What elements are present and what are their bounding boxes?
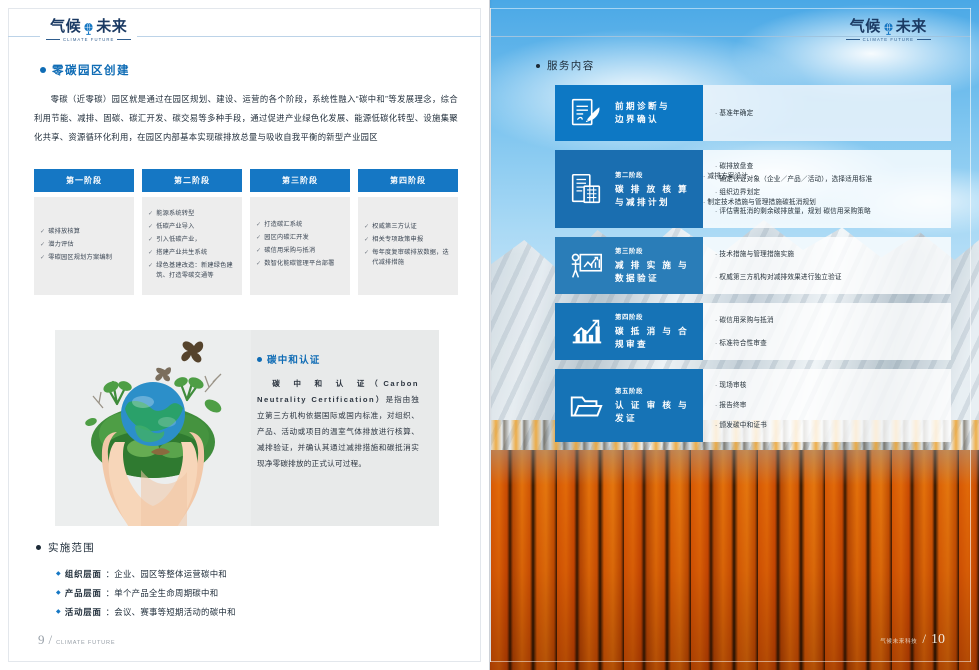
- left-page-footer: 9 / CLIMATE FUTURE: [38, 632, 115, 648]
- service-detail-overlay: 减排方案设计: [703, 170, 951, 183]
- stage-2-body: ✓能源系统转型 ✓低碳产业导入 ✓引入低碳产业， ✓搭建产业共生系统 ✓绿色基建…: [142, 197, 242, 295]
- check-icon: ✓: [364, 235, 369, 245]
- stage-item-label: 潜力评估: [48, 240, 74, 250]
- certification-heading: 碳中和认证: [257, 352, 419, 366]
- stage-item: ✓数智化能碳管理平台部署: [256, 259, 344, 269]
- stage-item: ✓相关专项政策申报: [364, 235, 452, 245]
- scope-heading: 实施范围: [36, 540, 95, 555]
- stage-item-label: 绿色基建改造：新建绿色建筑、打造零碳交通等: [156, 261, 236, 281]
- service-row-2-name: 碳 排 放 核 算 与减排计划: [615, 183, 689, 209]
- scope-item: ◆ 产品层面 ：单个产品全生命周期碳中和: [56, 584, 456, 603]
- stage-item-label: 低碳产业导入: [156, 222, 194, 232]
- service-row-1-details: 基准年确定: [703, 85, 951, 141]
- service-detail: 碳信用采购与抵消: [715, 314, 941, 327]
- section-title-text: 零碳园区创建: [52, 62, 130, 78]
- service-row-4-label: 第四阶段 碳 抵 消 与 合 规审查: [555, 303, 703, 360]
- scope-list: ◆ 组织层面 ：企业、园区等整体运营碳中和 ◆ 产品层面 ：单个产品全生命周期碳…: [56, 565, 456, 622]
- service-row-1-name: 前期诊断与 边界确认: [615, 100, 670, 126]
- service-detail: 基准年确定: [715, 107, 941, 120]
- stage-item-label: 权威第三方认证: [372, 222, 417, 232]
- footer-brand-name-left: CLIMATE FUTURE: [56, 640, 115, 646]
- check-icon: ✓: [364, 222, 369, 232]
- stage-item: ✓碳信用采购与抵消: [256, 246, 344, 256]
- section-title-zero-carbon-park: 零碳园区创建: [40, 62, 130, 78]
- service-row-3-details: 技术措施与管理措施实施 权威第三方机构对减排效果进行独立验证: [703, 237, 951, 294]
- brand-logo-right: 气候 未来 CLIMATE FUTURE: [840, 18, 937, 42]
- stage-1-title: 第一阶段: [34, 169, 134, 192]
- stage-item: ✓引入低碳产业，: [148, 235, 236, 245]
- bullet-dot-icon: [36, 545, 41, 550]
- logo-subtitle-right: CLIMATE FUTURE: [846, 37, 931, 42]
- stage-4-title: 第四阶段: [358, 169, 458, 192]
- service-row-1: 前期诊断与 边界确认 基准年确定: [555, 85, 951, 141]
- stage-item: ✓零碳园区规划方案编制: [40, 253, 128, 263]
- service-detail: 标准符合性审查: [715, 337, 941, 350]
- stage-item-label: 搭建产业共生系统: [156, 248, 207, 258]
- stage-item-label: 引入低碳产业，: [156, 235, 201, 245]
- document-pen-icon: [567, 94, 605, 132]
- growth-bar-chart-icon: [567, 313, 605, 351]
- presentation-chart-person-icon: [567, 247, 605, 285]
- footer-slash: /: [922, 631, 926, 647]
- service-detail: 报告终审: [715, 399, 941, 412]
- scope-item: ◆ 活动层面 ：会议、赛事等短期活动的碳中和: [56, 603, 456, 622]
- certification-body-text: 是指由独立第三方机构依据国际或国内标准，对组织、产品、活动或项目的温室气体排放进…: [257, 395, 419, 468]
- service-row-1-label: 前期诊断与 边界确认: [555, 85, 703, 141]
- stage-3-title: 第三阶段: [250, 169, 350, 192]
- logo-cn-part2: 未来: [96, 18, 127, 36]
- certification-text-block: 碳中和认证 碳 中 和 认 证（Carbon Neutrality Certif…: [251, 330, 439, 526]
- logo-cn-part2: 未来: [896, 18, 927, 36]
- stage-item: ✓每年度复审碳排放数据，迭代减排措施: [364, 248, 452, 268]
- stage-item-label: 园区内碳汇开发: [264, 233, 309, 243]
- zero-carbon-park-paragraph: 零碳（近零碳）园区就是通过在园区规划、建设、运营的各个阶段，系统性融入“碳中和”…: [34, 90, 458, 147]
- scope-item-value: ：单个产品全生命周期碳中和: [106, 584, 219, 603]
- service-row-5: 第五阶段 认 证 审 核 与 发证 现场审核 报告终审 颁发碳中和证书: [555, 369, 951, 442]
- check-icon: ✓: [148, 222, 153, 232]
- logo-subtitle-left: CLIMATE FUTURE: [46, 37, 131, 42]
- service-row-2-stage: 第二阶段: [615, 170, 689, 179]
- certification-lead-cn: 碳 中 和 认 证: [272, 379, 370, 388]
- check-icon: ✓: [40, 227, 45, 237]
- service-row-2-label: 第二阶段 碳 排 放 核 算 与减排计划: [555, 150, 703, 228]
- scope-item-value: ：会议、赛事等短期活动的碳中和: [106, 603, 236, 622]
- scope-item-key: 组织层面: [65, 565, 102, 584]
- carbon-neutrality-certification-panel: 碳中和认证 碳 中 和 认 证（Carbon Neutrality Certif…: [55, 330, 439, 526]
- left-page: 气候 未来 CLIMATE FUTURE 零碳园区创建 零碳（近零碳）园区就是通…: [0, 0, 490, 670]
- service-row-3-label: 第三阶段 减 排 实 施 与 数据验证: [555, 237, 703, 294]
- check-icon: ✓: [256, 259, 261, 269]
- folder-icon: [567, 387, 605, 425]
- check-icon: ✓: [148, 209, 153, 219]
- stage-item-label: 相关专项政策申报: [372, 235, 423, 245]
- stage-3-body: ✓打造碳汇系统 ✓园区内碳汇开发 ✓碳信用采购与抵消 ✓数智化能碳管理平台部署: [250, 197, 350, 295]
- service-row-3: 第三阶段 减 排 实 施 与 数据验证 技术措施与管理措施实施 权威第三方机构对…: [555, 237, 951, 294]
- stage-columns: 第一阶段 ✓碳排放核算 ✓潜力评估 ✓零碳园区规划方案编制 第二阶段 ✓能源系统…: [34, 169, 458, 295]
- service-row-5-label: 第五阶段 认 证 审 核 与 发证: [555, 369, 703, 442]
- bullet-dot-icon: [257, 357, 262, 362]
- stage-4-body: ✓权威第三方认证 ✓相关专项政策申报 ✓每年度复审碳排放数据，迭代减排措施: [358, 197, 458, 295]
- page-gutter-line: [490, 8, 491, 662]
- stage-item-label: 碳信用采购与抵消: [264, 246, 315, 256]
- service-row-4-name: 碳 抵 消 与 合 规审查: [615, 325, 689, 351]
- bullet-dot-icon: [40, 67, 46, 73]
- stage-item-label: 打造碳汇系统: [264, 220, 302, 230]
- logo-globe-icon: [82, 22, 95, 35]
- logo-cn-part1: 气候: [850, 18, 881, 36]
- service-detail-overlay: 制定技术措施与管理措施碳抵消规划: [703, 196, 951, 209]
- ledger-calculator-icon: [567, 170, 605, 208]
- stage-item: ✓权威第三方认证: [364, 222, 452, 232]
- stage-item: ✓打造碳汇系统: [256, 220, 344, 230]
- footer-brand-name-right: 气候未来科技: [880, 637, 917, 645]
- stage-item: ✓低碳产业导入: [148, 222, 236, 232]
- service-row-5-stage: 第五阶段: [615, 386, 689, 395]
- stage-item-label: 碳排放核算: [48, 227, 80, 237]
- brand-logo-left: 气候 未来 CLIMATE FUTURE: [40, 18, 137, 42]
- diamond-bullet-icon: ◆: [56, 584, 61, 603]
- check-icon: ✓: [364, 248, 369, 258]
- stage-item: ✓绿色基建改造：新建绿色建筑、打造零碳交通等: [148, 261, 236, 281]
- service-row-3-titles: 第三阶段 减 排 实 施 与 数据验证: [615, 246, 689, 285]
- service-row-4-details: 碳信用采购与抵消 标准符合性审查: [703, 303, 951, 360]
- service-row-2: 第二阶段 碳 排 放 核 算 与减排计划 碳排放盘查 确定认证对象（企业／产品／…: [555, 150, 951, 228]
- service-row-2-titles: 第二阶段 碳 排 放 核 算 与减排计划: [615, 170, 689, 209]
- check-icon: ✓: [40, 253, 45, 263]
- stage-column-3: 第三阶段 ✓打造碳汇系统 ✓园区内碳汇开发 ✓碳信用采购与抵消 ✓数智化能碳管理…: [250, 169, 350, 295]
- page-number-right: 10: [931, 632, 945, 648]
- bullet-dot-icon: [536, 64, 540, 68]
- logo-cn-part1: 气候: [50, 18, 81, 36]
- diamond-bullet-icon: ◆: [56, 565, 61, 584]
- logo-text-left: 气候 未来: [50, 18, 127, 36]
- service-detail: 颁发碳中和证书: [715, 419, 941, 432]
- service-row-5-titles: 第五阶段 认 证 审 核 与 发证: [615, 386, 689, 425]
- service-row-5-details: 现场审核 报告终审 颁发碳中和证书: [703, 369, 951, 442]
- service-row-3-name: 减 排 实 施 与 数据验证: [615, 259, 689, 285]
- hands-holding-earth-image: [55, 330, 251, 526]
- scope-item-key: 活动层面: [65, 603, 102, 622]
- right-page-frame-top: [490, 8, 971, 9]
- certification-body: 碳 中 和 认 证（Carbon Neutrality Certificatio…: [257, 376, 419, 472]
- scope-item: ◆ 组织层面 ：企业、园区等整体运营碳中和: [56, 565, 456, 584]
- service-row-4: 第四阶段 碳 抵 消 与 合 规审查 碳信用采购与抵消 标准符合性审查: [555, 303, 951, 360]
- right-page: 气候 未来 CLIMATE FUTURE 服务内容: [490, 0, 979, 670]
- right-page-frame-right: [970, 8, 971, 662]
- footer-slash: /: [49, 632, 53, 648]
- certification-heading-text: 碳中和认证: [267, 352, 321, 366]
- stage-2-title: 第二阶段: [142, 169, 242, 192]
- stage-column-2: 第二阶段 ✓能源系统转型 ✓低碳产业导入 ✓引入低碳产业， ✓搭建产业共生系统 …: [142, 169, 242, 295]
- stage-1-body: ✓碳排放核算 ✓潜力评估 ✓零碳园区规划方案编制: [34, 197, 134, 295]
- check-icon: ✓: [148, 248, 153, 258]
- scope-heading-text: 实施范围: [48, 540, 95, 555]
- logo-text-right: 气候 未来: [850, 18, 927, 36]
- service-row-1-titles: 前期诊断与 边界确认: [615, 100, 670, 126]
- service-row-3-stage: 第三阶段: [615, 246, 689, 255]
- stage-item: ✓搭建产业共生系统: [148, 248, 236, 258]
- scope-item-key: 产品层面: [65, 584, 102, 603]
- service-detail: 现场审核: [715, 379, 941, 392]
- check-icon: ✓: [148, 235, 153, 245]
- right-page-footer: 气候未来科技 / 10: [880, 631, 945, 648]
- stage-item: ✓能源系统转型: [148, 209, 236, 219]
- scope-item-value: ：企业、园区等整体运营碳中和: [106, 565, 227, 584]
- brochure-spread: 气候 未来 CLIMATE FUTURE 零碳园区创建 零碳（近零碳）园区就是通…: [0, 0, 979, 670]
- page-number-left: 9: [38, 632, 45, 648]
- service-detail: 权威第三方机构对减排效果进行独立验证: [715, 271, 941, 284]
- diamond-bullet-icon: ◆: [56, 603, 61, 622]
- stage-item-label: 数智化能碳管理平台部署: [264, 259, 334, 269]
- stage-item: ✓潜力评估: [40, 240, 128, 250]
- service-list: 前期诊断与 边界确认 基准年确定: [555, 85, 951, 451]
- check-icon: ✓: [256, 233, 261, 243]
- service-row-2-details: 碳排放盘查 确定认证对象（企业／产品／活动），选择适用标准 组织边界划定 评估需…: [703, 150, 951, 228]
- service-row-4-stage: 第四阶段: [615, 312, 689, 321]
- stage-column-4: 第四阶段 ✓权威第三方认证 ✓相关专项政策申报 ✓每年度复审碳排放数据，迭代减排…: [358, 169, 458, 295]
- service-row-2-details-overlay: 减排方案设计 制定技术措施与管理措施碳抵消规划: [703, 157, 951, 209]
- stage-item-label: 零碳园区规划方案编制: [48, 253, 112, 263]
- service-row-4-titles: 第四阶段 碳 抵 消 与 合 规审查: [615, 312, 689, 351]
- check-icon: ✓: [40, 240, 45, 250]
- stage-item: ✓园区内碳汇开发: [256, 233, 344, 243]
- stage-item-label: 能源系统转型: [156, 209, 194, 219]
- logo-globe-icon: [882, 22, 895, 35]
- section-title-services-text: 服务内容: [547, 58, 595, 73]
- right-page-frame-bottom: [490, 661, 971, 662]
- service-row-5-name: 认 证 审 核 与 发证: [615, 399, 689, 425]
- check-icon: ✓: [148, 261, 153, 271]
- stage-column-1: 第一阶段 ✓碳排放核算 ✓潜力评估 ✓零碳园区规划方案编制: [34, 169, 134, 295]
- stage-item: ✓碳排放核算: [40, 227, 128, 237]
- service-detail: 技术措施与管理措施实施: [715, 248, 941, 261]
- section-title-services: 服务内容: [536, 58, 595, 73]
- check-icon: ✓: [256, 220, 261, 230]
- stage-item-label: 每年度复审碳排放数据，迭代减排措施: [372, 248, 452, 268]
- check-icon: ✓: [256, 246, 261, 256]
